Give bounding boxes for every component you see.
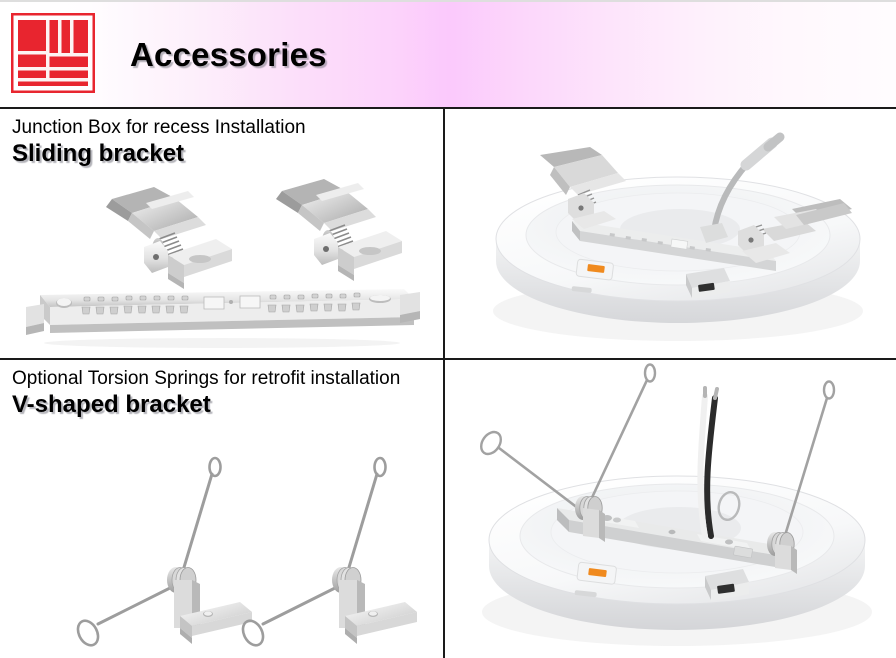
round-led-panel-with-sliding-bracket-illustration [450,111,896,354]
round-led-panel-with-torsion-springs-illustration [447,362,896,658]
connector-indicator [576,259,614,280]
sliding-bracket-caption: Junction Box for recess Installation Sli… [12,116,432,168]
perforated-mounting-rail-illustration [22,277,422,355]
v-shaped-bracket-description-cell: Optional Torsion Springs for retrofit in… [0,360,443,658]
v-shaped-torsion-spring-parts-illustration [40,452,430,657]
spring-clip-left [106,187,232,289]
torsion-spring-right [239,458,417,649]
sliding-bracket-caption-emphasis: Sliding bracket [12,140,432,168]
slide-header: Accessories [0,0,896,107]
torsion-spring-left [74,458,252,649]
page-title: Accessories [130,36,327,74]
v-shaped-bracket-caption-line: Optional Torsion Springs for retrofit in… [12,367,432,390]
v-shaped-bracket-caption: Optional Torsion Springs for retrofit in… [12,367,432,419]
table-row: Junction Box for recess Installation Sli… [0,109,896,358]
sliding-bracket-photo-cell [443,109,896,358]
sliding-bracket-caption-line: Junction Box for recess Installation [12,116,432,139]
spring-clip-right [276,179,402,281]
sliding-bracket-description-cell: Junction Box for recess Installation Sli… [0,109,443,358]
v-shaped-bracket-caption-emphasis: V-shaped bracket [12,391,432,419]
table-row: Optional Torsion Springs for retrofit in… [0,358,896,658]
v-shaped-bracket-photo-cell [443,360,896,658]
sliding-bracket-parts-illustration [20,169,430,289]
company-logo-icon [11,13,95,93]
accessories-table: Junction Box for recess Installation Sli… [0,107,896,658]
